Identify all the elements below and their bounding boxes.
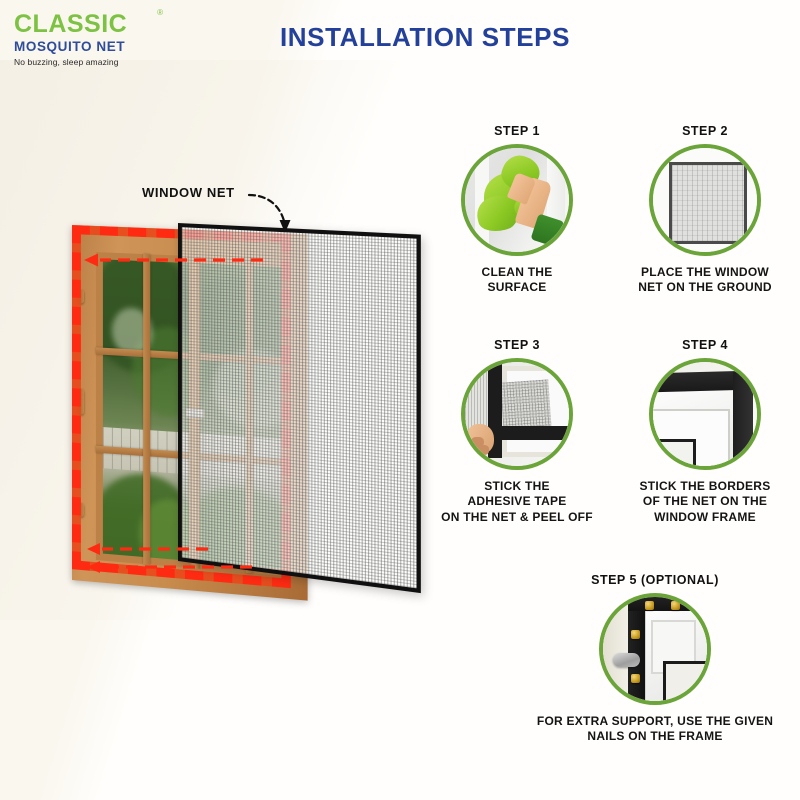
step-5-image (599, 593, 711, 705)
brand-tagline: No buzzing, sleep amazing (14, 58, 154, 67)
hand-wiping-wall-with-green-cloth-icon (465, 148, 569, 252)
window-hinge (78, 502, 84, 516)
step-card-4: STEP 4 STICK THE BORDERS OF THE NET ON T… (620, 338, 790, 525)
net-frame-with-gold-nails-icon (603, 597, 707, 701)
brand-logo: CLASSIC ® MOSQUITO NET No buzzing, sleep… (14, 12, 154, 66)
step-3-image (461, 358, 573, 470)
step-card-1: STEP 1 CLEAN THE SURFACE (432, 124, 602, 296)
step-4-image (649, 358, 761, 470)
step-1-image (461, 144, 573, 256)
net-border-attached-to-window-frame-icon (653, 362, 757, 466)
step-2-caption: PLACE THE WINDOW NET ON THE GROUND (620, 265, 790, 296)
window-handle (78, 389, 84, 415)
nail-icon (671, 601, 680, 610)
window-net-label: WINDOW NET (142, 185, 235, 200)
step-4-title: STEP 4 (620, 338, 790, 352)
step-1-title: STEP 1 (432, 124, 602, 138)
step-2-title: STEP 2 (620, 124, 790, 138)
step-2-image (649, 144, 761, 256)
step-3-title: STEP 3 (432, 338, 602, 352)
nail-icon (645, 601, 654, 610)
registered-trademark-icon: ® (157, 9, 163, 17)
step-card-2: STEP 2 PLACE THE WINDOW NET ON THE GROUN… (620, 124, 790, 296)
nail-icon (631, 630, 640, 639)
brand-name-primary: CLASSIC (14, 12, 127, 37)
step-5-title: STEP 5 (OPTIONAL) (525, 573, 785, 587)
brand-name-secondary: MOSQUITO NET (14, 40, 154, 54)
mosquito-net-panel (178, 223, 421, 593)
step-4-caption: STICK THE BORDERS OF THE NET ON THE WIND… (620, 479, 790, 525)
window-hinge (78, 289, 84, 303)
nail-icon (631, 674, 640, 683)
page-title: INSTALLATION STEPS (255, 22, 595, 53)
step-card-5: STEP 5 (OPTIONAL) FOR EXTRA SUPPORT, USE… (525, 573, 785, 745)
hero-illustration: WINDOW NET (60, 185, 410, 605)
infographic-canvas: CLASSIC ® MOSQUITO NET No buzzing, sleep… (0, 0, 800, 800)
step-5-caption: FOR EXTRA SUPPORT, USE THE GIVEN NAILS O… (525, 714, 785, 745)
window-muntin-vertical (143, 254, 150, 565)
step-1-caption: CLEAN THE SURFACE (432, 265, 602, 296)
step-3-caption: STICK THE ADHESIVE TAPE ON THE NET & PEE… (432, 479, 602, 525)
grey-mesh-net-square-icon (653, 148, 757, 252)
step-card-3: STEP 3 STICK THE ADHESIVE TAPE ON THE NE… (432, 338, 602, 525)
hand-peeling-adhesive-tape-on-net-icon (465, 362, 569, 466)
